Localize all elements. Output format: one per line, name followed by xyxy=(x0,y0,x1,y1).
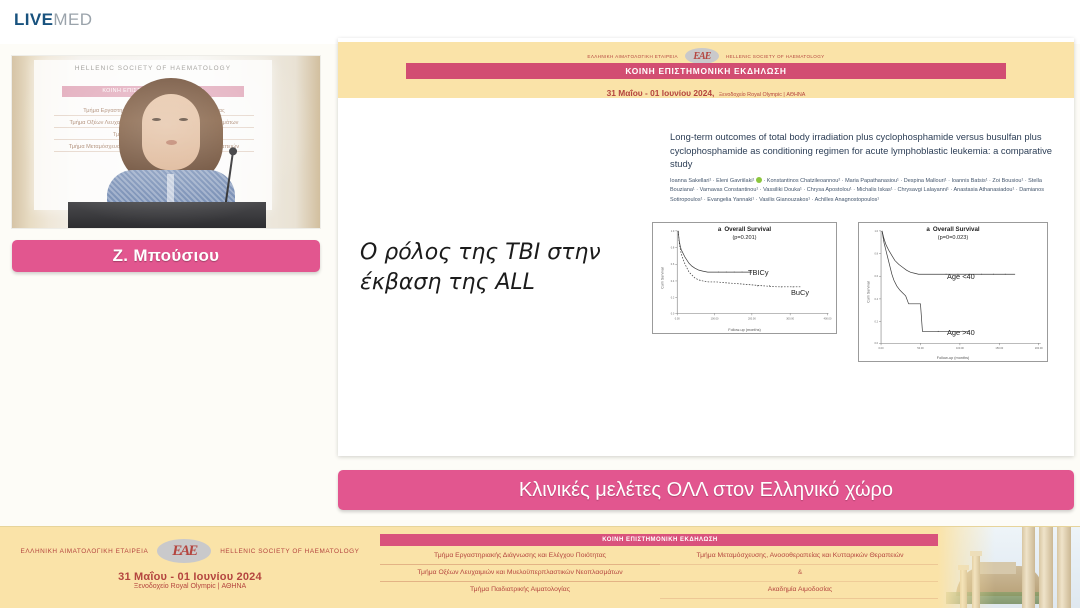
eae-logo-icon: EAE xyxy=(685,48,719,64)
svg-text:0.0: 0.0 xyxy=(875,341,879,345)
livemed-logo[interactable]: LIVEMED xyxy=(14,10,92,30)
svg-text:100.00: 100.00 xyxy=(956,346,964,350)
slide-date-row: 31 Μαΐου - 01 Ιουνίου 2024, Ξενοδοχείο R… xyxy=(338,83,1074,101)
footer-society-row: ΕΛΛΗΝΙΚΗ ΑΙΜΑΤΟΛΟΓΙΚΗ ΕΤΑΙΡΕΙΑ EAE HELLE… xyxy=(0,539,380,563)
svg-text:0.6: 0.6 xyxy=(875,274,879,278)
svg-text:0.00: 0.00 xyxy=(675,316,681,320)
footer-acropolis-image xyxy=(938,527,1080,608)
km-chart-age: aOverall Survival (p=0=0.023) Cum Surviv… xyxy=(858,222,1048,362)
logo-live-text: LIVE xyxy=(14,10,53,29)
eae-footer-logo-text: EAE xyxy=(172,543,196,560)
paper-title: Long-term outcomes of total body irradia… xyxy=(670,130,1055,171)
footer-society-english: HELLENIC SOCIETY OF HAEMATOLOGY xyxy=(220,548,359,555)
presentation-slide[interactable]: ΕΛΛΗΝΙΚΗ ΑΙΜΑΤΟΛΟΓΙΚΗ ΕΤΑΙΡΕΙΑ EAE HELLE… xyxy=(338,38,1074,456)
slide-society-greek: ΕΛΛΗΝΙΚΗ ΑΙΜΑΤΟΛΟΓΙΚΗ ΕΤΑΙΡΕΙΑ xyxy=(587,54,677,59)
session-title-banner: Κλινικές μελέτες ΟΛΛ στον Ελληνικό χώρο xyxy=(338,470,1074,510)
svg-text:0.8: 0.8 xyxy=(875,252,879,256)
session-title-text: Κλινικές μελέτες ΟΛΛ στον Ελληνικό χώρο xyxy=(519,479,893,502)
slide-venue-text: Ξενοδοχείο Royal Olympic | ΑΘΗΝΑ xyxy=(719,92,806,98)
svg-text:1.0: 1.0 xyxy=(671,229,675,233)
footer-date-text: 31 Μαΐου - 01 Ιουνίου 2024 xyxy=(0,571,380,583)
footer-dept-right-ampersand: & xyxy=(660,565,940,582)
speaker-name-banner: Ζ. Μπούσιου xyxy=(12,240,320,272)
svg-text:150.00: 150.00 xyxy=(995,346,1003,350)
slide-society-row: ΕΛΛΗΝΙΚΗ ΑΙΜΑΤΟΛΟΓΙΚΗ ΕΤΑΙΡΕΙΑ EAE HELLE… xyxy=(338,48,1074,64)
footer-dept-right-2: Ακαδημία Αιμοδοσίας xyxy=(660,582,940,599)
svg-text:0.4: 0.4 xyxy=(875,297,879,301)
speaker-video[interactable]: HELLENIC SOCIETY OF HAEMATOLOGY ΚΟΙΝΗ ΕΠ… xyxy=(12,56,320,228)
km-left-plot: 0.00100.00 200.00300.00400.00 1.00.80.6 … xyxy=(653,223,836,333)
authors-line-1a: Ioanna Sakellari¹ · Eleni Gavriilaki¹ xyxy=(670,178,754,184)
authors-line-1b: · Konstantinos Chatzileoannou² · Maria P… xyxy=(763,178,949,184)
svg-text:0.6: 0.6 xyxy=(671,262,675,266)
footer-dept-right-1: Τμήμα Μεταμόσχευσης, Ανοσοθεραπείας και … xyxy=(660,548,940,565)
svg-text:0.8: 0.8 xyxy=(671,246,675,250)
logo-med-text: MED xyxy=(53,10,92,29)
km-chart-regimen: aOverall Survival (p=0.201) Cum Survival… xyxy=(652,222,837,334)
footer-department-column-left: Τμήμα Εργαστηριακής Διάγνωσης και Ελέγχο… xyxy=(380,548,660,599)
paper-authors: Ioanna Sakellari¹ · Eleni Gavriilaki¹ · … xyxy=(670,177,1062,205)
km-right-plot: 0.0050.00 100.00150.00200.00 1.00.80.6 0… xyxy=(859,223,1047,361)
slide-society-english: HELLENIC SOCIETY OF HAEMATOLOGY xyxy=(726,54,825,59)
footer-departments-block: ΚΟΙΝΗ ΕΠΙΣΤΗΜΟΝΙΚΗ ΕΚΔΗΛΩΣΗ Τμήμα Εργαστ… xyxy=(380,534,940,602)
footer-venue-text: Ξενοδοχείο Royal Olympic | ΑΘΗΝΑ xyxy=(0,583,380,590)
footer-event-text: ΚΟΙΝΗ ΕΠΙΣΤΗΜΟΝΙΚΗ ΕΚΔΗΛΩΣΗ xyxy=(602,537,718,543)
footer-event-bar: ΚΟΙΝΗ ΕΠΙΣΤΗΜΟΝΙΚΗ ΕΚΔΗΛΩΣΗ xyxy=(380,534,940,546)
footer-department-columns: Τμήμα Εργαστηριακής Διάγνωσης και Ελέγχο… xyxy=(380,548,940,599)
eae-footer-logo-icon: EAE xyxy=(157,539,211,563)
svg-text:200.00: 200.00 xyxy=(748,316,756,320)
footer-dept-left-3: Τμήμα Παιδιατρικής Αιματολογίας xyxy=(380,582,660,598)
svg-text:0.4: 0.4 xyxy=(671,279,675,283)
page-footer: ΕΛΛΗΝΙΚΗ ΑΙΜΑΤΟΛΟΓΙΚΗ ΕΤΑΙΡΕΙΑ EAE HELLE… xyxy=(0,526,1080,608)
talk-title: Ο ρόλος της TBI στην έκβαση της ALL xyxy=(360,238,650,298)
slide-event-text: ΚΟΙΝΗ ΕΠΙΣΤΗΜΟΝΙΚΗ ΕΚΔΗΛΩΣΗ xyxy=(625,66,786,76)
svg-text:100.00: 100.00 xyxy=(711,316,719,320)
svg-text:0.2: 0.2 xyxy=(671,296,675,300)
svg-text:0.0: 0.0 xyxy=(671,311,675,315)
video-light-haze xyxy=(12,56,320,228)
footer-department-column-right: Τμήμα Μεταμόσχευσης, Ανοσοθεραπείας και … xyxy=(660,548,940,599)
footer-dept-left-2: Τμήμα Οξέων Λευχαιμιών και Μυελοϋπερπλασ… xyxy=(380,565,660,582)
player-stage: LIVEMED HELLENIC SOCIETY OF HAEMATOLOGY … xyxy=(0,0,1080,608)
acropolis-fade-overlay xyxy=(938,527,1080,608)
footer-society-block: ΕΛΛΗΝΙΚΗ ΑΙΜΑΤΟΛΟΓΙΚΗ ΕΤΑΙΡΕΙΑ EAE HELLE… xyxy=(0,527,380,608)
svg-text:50.00: 50.00 xyxy=(917,346,924,350)
speaker-name-text: Ζ. Μπούσιου xyxy=(113,246,220,266)
svg-text:200.00: 200.00 xyxy=(1035,346,1043,350)
svg-text:300.00: 300.00 xyxy=(786,316,794,320)
footer-society-greek: ΕΛΛΗΝΙΚΗ ΑΙΜΑΤΟΛΟΓΙΚΗ ΕΤΑΙΡΕΙΑ xyxy=(21,548,149,555)
slide-date-text: 31 Μαΐου - 01 Ιουνίου 2024, xyxy=(607,88,715,98)
eae-logo-text: EAE xyxy=(693,51,710,62)
svg-text:1.0: 1.0 xyxy=(875,229,879,233)
authors-line-4: Vasilis Gianouzakos¹ · Achilles Anagnost… xyxy=(759,197,879,203)
open-access-icon xyxy=(756,177,762,183)
slide-event-bar: ΚΟΙΝΗ ΕΠΙΣΤΗΜΟΝΙΚΗ ΕΚΔΗΛΩΣΗ xyxy=(406,63,1006,79)
svg-text:0.00: 0.00 xyxy=(879,346,885,350)
svg-text:400.00: 400.00 xyxy=(824,316,832,320)
footer-dept-left-1: Τμήμα Εργαστηριακής Διάγνωσης και Ελέγχο… xyxy=(380,548,660,565)
svg-text:0.2: 0.2 xyxy=(875,320,879,324)
footer-date-block: 31 Μαΐου - 01 Ιουνίου 2024 Ξενοδοχείο Ro… xyxy=(0,571,380,590)
slide-header: ΕΛΛΗΝΙΚΗ ΑΙΜΑΤΟΛΟΓΙΚΗ ΕΤΑΙΡΕΙΑ EAE HELLE… xyxy=(338,42,1074,98)
